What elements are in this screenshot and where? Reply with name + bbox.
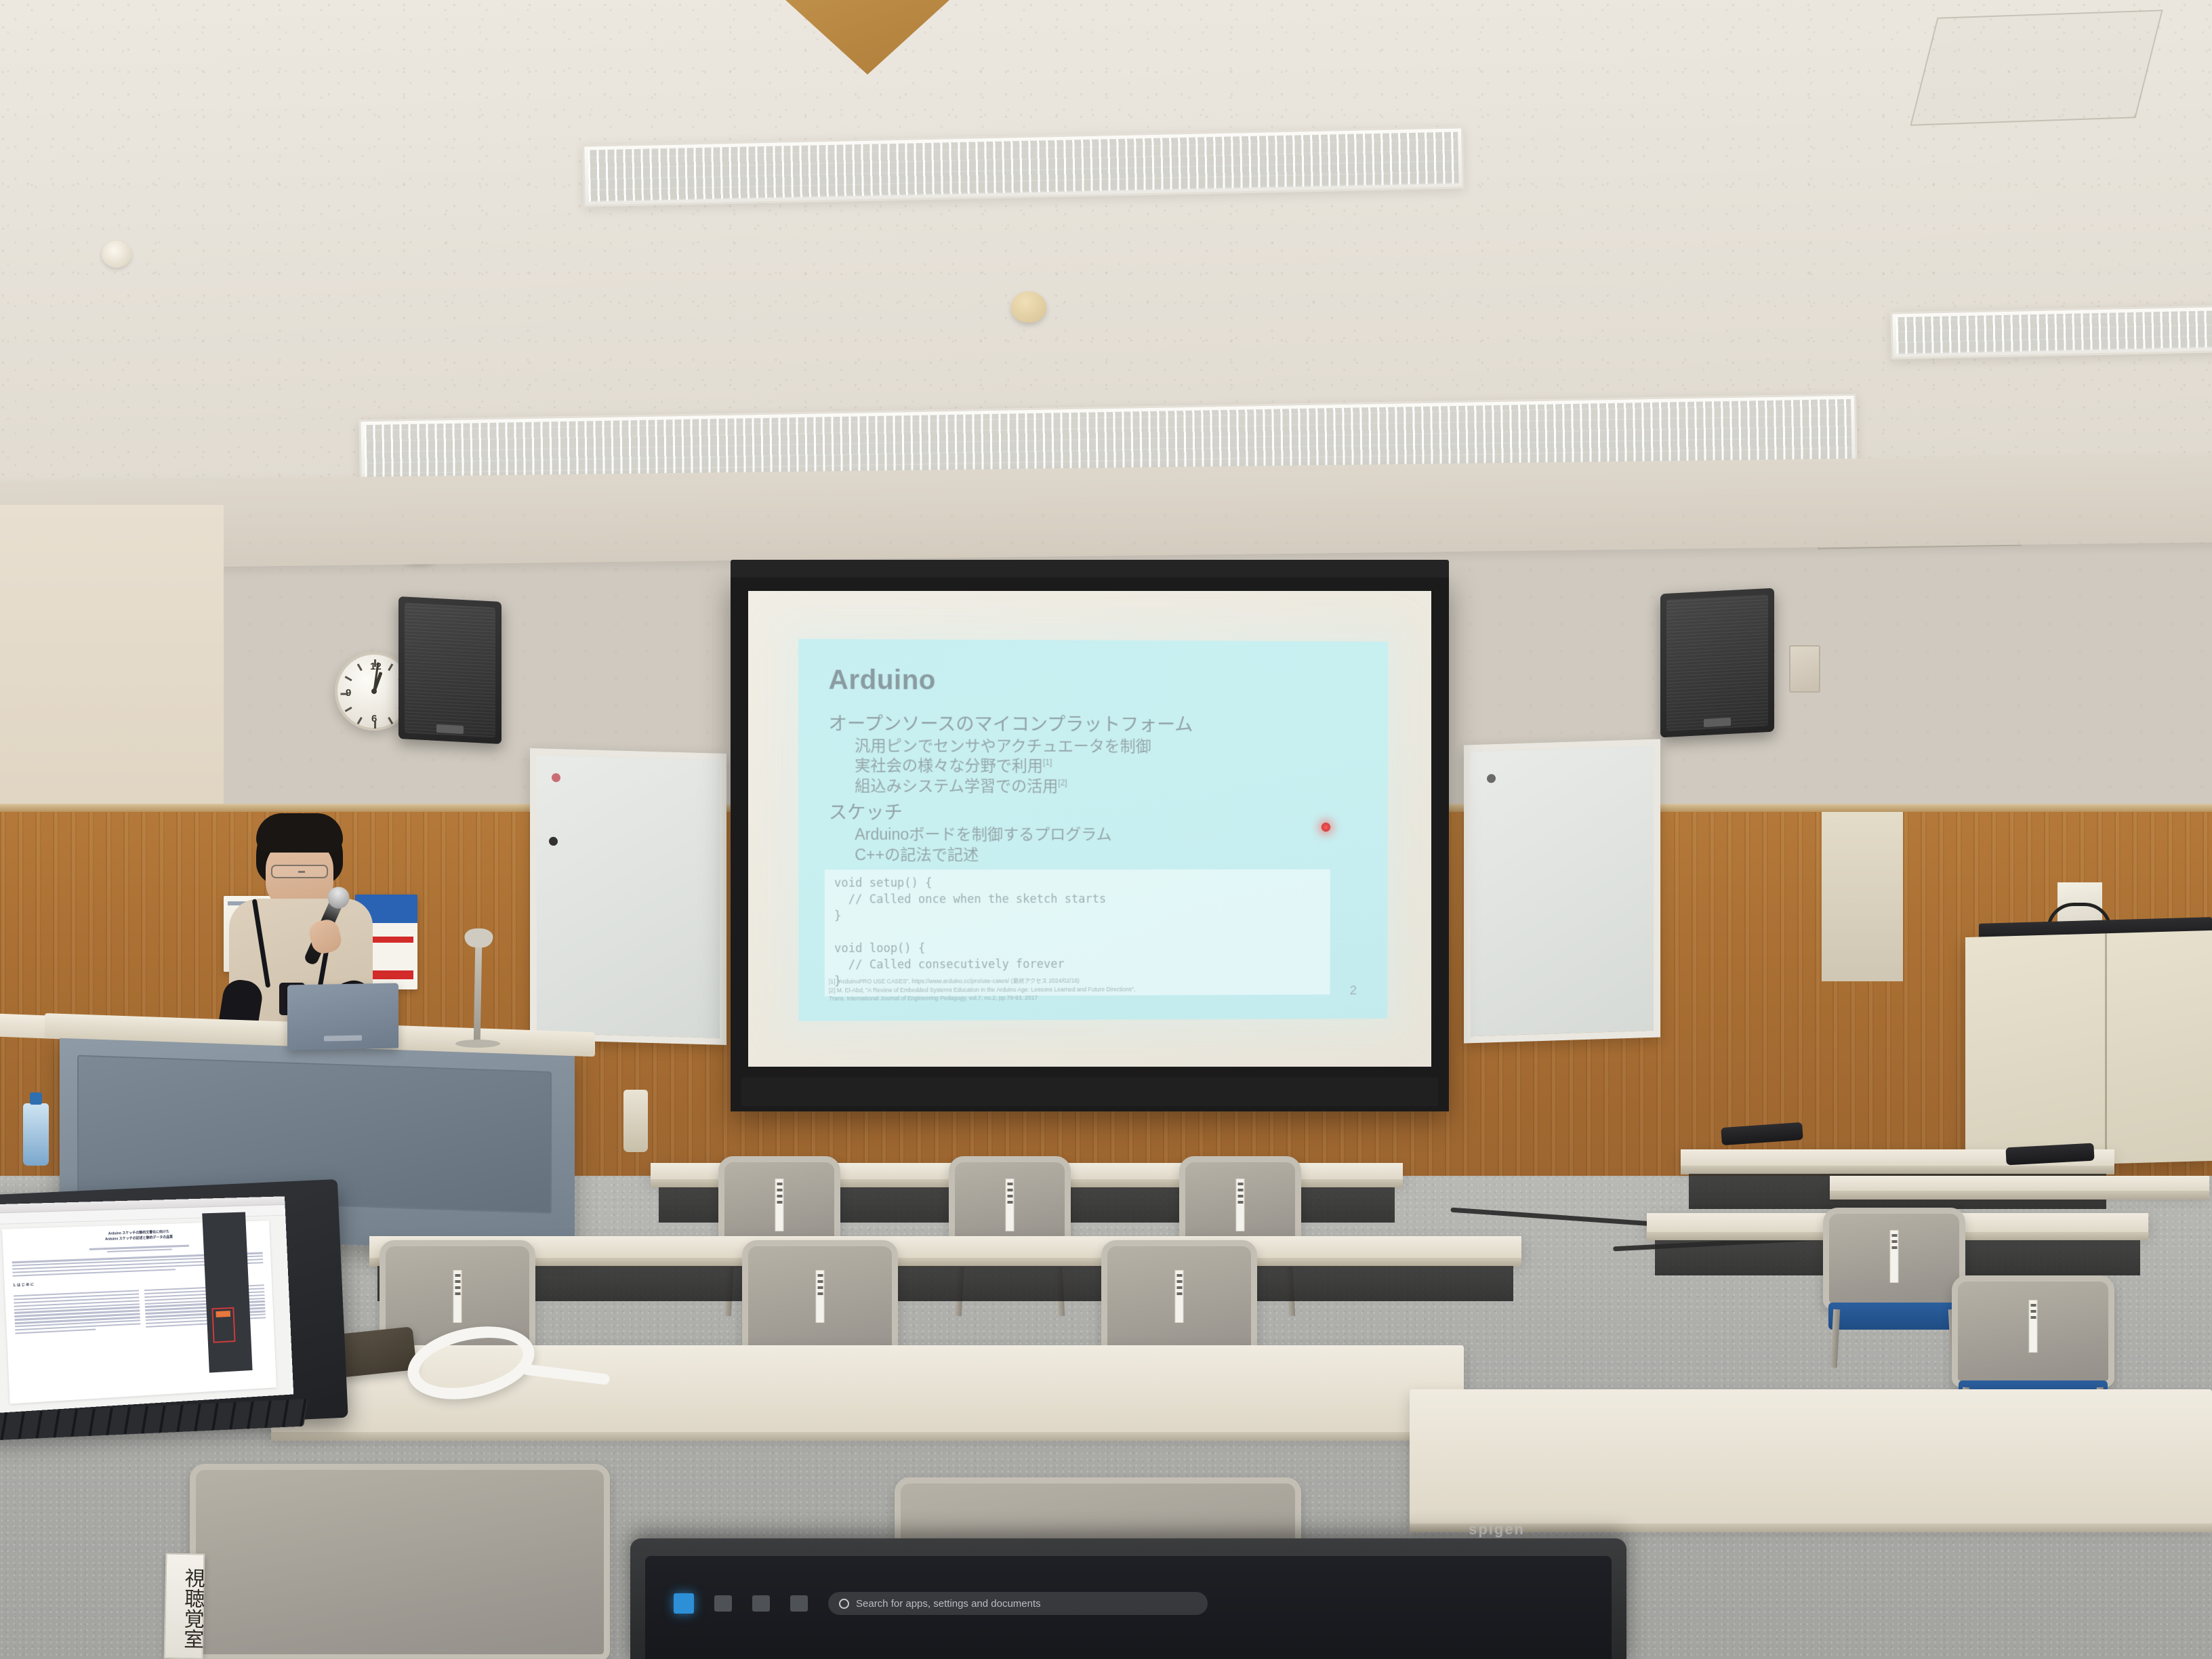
clock-numeral-9: 9 [346,687,351,699]
slide-bullet-6: C++の記法で記述 [855,845,1365,865]
clock-numeral-6: 6 [371,713,377,724]
laptop-brand-label: spigen [1469,1521,1525,1538]
speaker-logo [1704,718,1731,727]
laptop-logo [324,1036,362,1042]
slide-page-number: 2 [1350,983,1357,998]
equipment-cabinet [1965,930,2212,1168]
table-edge [1830,1191,2209,1200]
cabinet-door-seam [2105,933,2107,1164]
taskbar-icon-3[interactable] [790,1595,808,1612]
table-edge [271,1432,1464,1441]
slide-footnote-ref-2: [2] [1058,779,1067,788]
wall-switch-plate[interactable] [1789,645,1820,693]
windows-start-icon[interactable] [674,1593,694,1614]
chair-label-sticker [1236,1179,1245,1231]
slide-bullet-4: スケッチ [829,801,1366,825]
chair-label-sticker [2029,1300,2038,1353]
upper-wall-left [0,505,224,823]
table-right-extra [1830,1176,2209,1192]
search-icon [839,1599,849,1609]
chair-back [190,1464,610,1659]
left-wall-speaker [398,596,501,744]
microphone-stand-base [455,1040,500,1048]
glasses-icon [271,865,328,878]
chair-foreground-1[interactable] [190,1464,610,1659]
left-whiteboard [530,748,726,1045]
slide-bullet-1: 汎用ピンでセンサやアクチュエータを制御 [855,736,1365,757]
chair-label-sticker [453,1270,462,1323]
chair-label-sticker [816,1270,825,1323]
light-grille [588,132,1458,202]
chair-label-sticker [1175,1270,1184,1323]
laptop-screen[interactable]: Arduino スケッチの静的文書化に向けた Arduino スケッチの記述と静… [0,1196,293,1413]
ceiling-access-panel-1 [1910,9,2163,125]
chair-label-sticker [1890,1230,1899,1283]
ceiling [0,0,2212,542]
lecture-room-photo: 12 9 6 Arduino オープンソースのマイコンプラットフォーム 汎用ピン… [0,0,2212,1659]
right-doorway [1822,812,1903,981]
room-sign: 視聴覚室 [164,1553,205,1659]
slide-bullet-0: オープンソースのマイコンプラットフォーム [829,712,1366,737]
foreground-laptop[interactable]: spigen Search for apps, settings and doc… [630,1538,1626,1659]
smartphone[interactable] [337,1326,417,1377]
laptop-side-panel [202,1212,252,1373]
light-grille [1896,310,2212,354]
ceiling-light-fixture-right [1890,305,2212,360]
table-edge [1410,1523,2212,1532]
laser-pointer-dot [1321,822,1331,832]
speaker-grille [1666,594,1768,731]
speaker-logo [436,724,464,734]
slide-title: Arduino [829,665,1366,697]
highlighted-region [211,1307,235,1343]
search-placeholder: Search for apps, settings and documents [856,1598,1041,1610]
slide-bullet-5: Arduinoボードを制御するプログラム [855,825,1365,845]
chair-label-sticker [775,1179,784,1231]
slide-bullet-2: 実社会の様々な分野で利用[1] [855,756,1365,777]
chair-right-1[interactable] [1823,1208,1965,1309]
chair-label-sticker [1006,1179,1015,1231]
chair-right-2[interactable] [1952,1275,2114,1387]
screen-bottom-bar [741,1078,1438,1106]
podium-laptop[interactable] [287,983,398,1050]
right-whiteboard [1464,739,1660,1043]
slide-bullet-3: 組込みシステム学習での活用[2] [855,777,1365,798]
slide-references: [1] "ArduinoPRO USE CASES", https://www.… [829,976,1135,1003]
laptop-bezel: Search for apps, settings and documents [645,1556,1612,1659]
taskbar-icon-1[interactable] [714,1595,732,1612]
table-foreground-right [1410,1389,2212,1525]
chair-legs [1832,1309,1957,1368]
table-row-middle [369,1236,1521,1259]
table-underside [377,1266,1513,1301]
speaker-grille [405,602,495,737]
taskbar-icon-2[interactable] [752,1595,770,1612]
reference-3: Trans. International Journal of Engineer… [829,994,1135,1004]
magnet-icon [552,773,560,782]
reference-2: [2] M. El-Abd, "A Review of Embedded Sys… [829,985,1135,994]
slide-footnote-ref-1: [1] [1043,758,1052,768]
magnet-icon [1487,774,1496,783]
clock-center-pin [371,689,377,694]
right-wall-speaker [1660,588,1774,738]
presenter-fringe [256,813,343,853]
left-laptop[interactable]: Arduino スケッチの静的文書化に向けた Arduino スケッチの記述と静… [0,1179,348,1434]
ceiling-speaker-icon [102,241,131,268]
smoke-detector-icon [1011,291,1046,323]
projected-slide: Arduino オープンソースのマイコンプラットフォーム 汎用ピンでセンサやアク… [798,639,1388,1021]
windows-taskbar[interactable]: Search for apps, settings and documents [645,1583,1612,1624]
desk-cylinder-item [623,1090,648,1152]
windows-search-box[interactable]: Search for apps, settings and documents [828,1592,1208,1615]
water-bottle [23,1103,49,1166]
magnet-icon [549,837,558,846]
